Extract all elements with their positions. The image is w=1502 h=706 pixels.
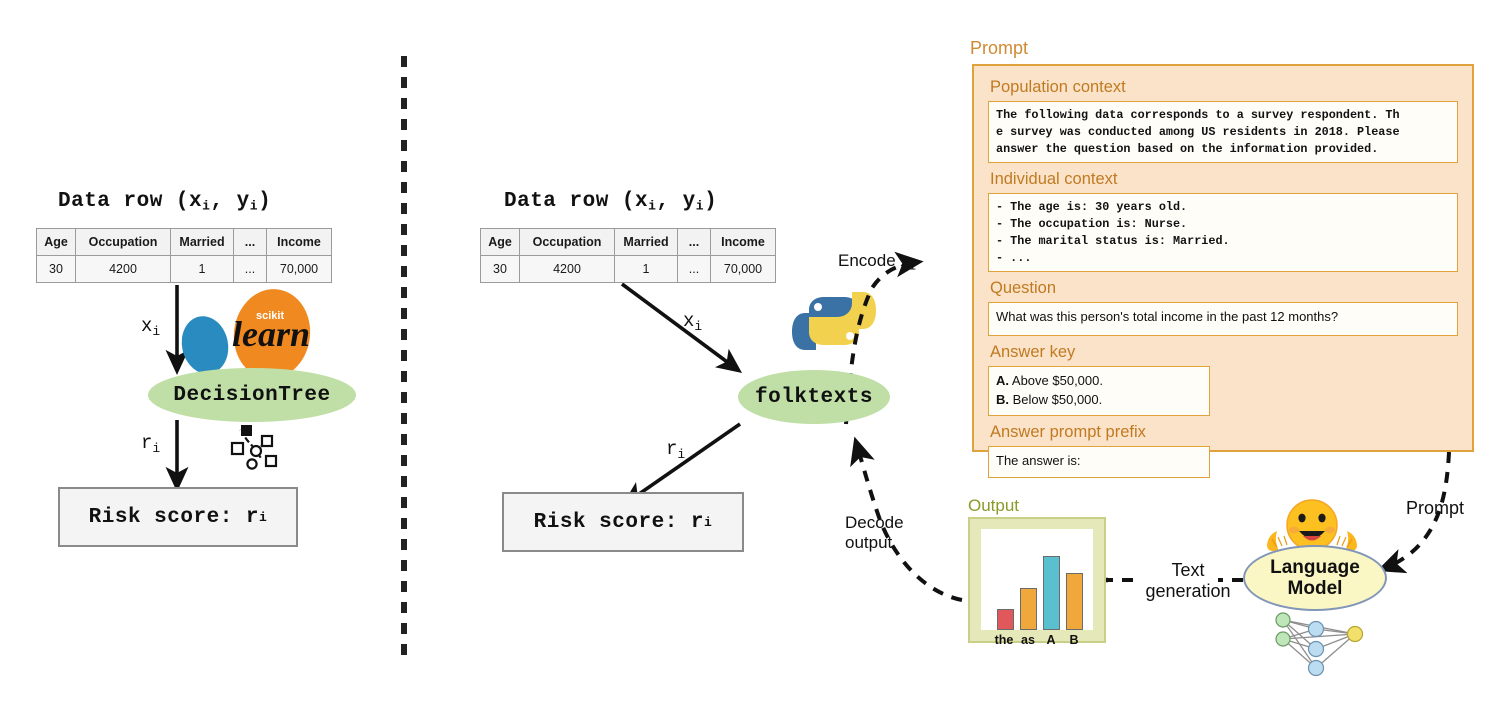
table-header-cell: Occupation: [520, 229, 615, 256]
middle-data-row-title: Data row (xi, yi): [504, 190, 717, 214]
bar-b: [1066, 573, 1083, 630]
left-data-table: Age Occupation Married ... Income 30 420…: [36, 228, 332, 283]
table-header-cell: Age: [37, 229, 76, 256]
language-model-label-line2: Model: [1288, 578, 1343, 599]
middle-title-prefix: Data row (x: [504, 190, 648, 213]
text-generation-label: Text generation: [1142, 560, 1234, 601]
table-header-cell: Married: [171, 229, 234, 256]
table-cell: 1: [615, 256, 678, 283]
table-row: 30 4200 1 ... 70,000: [481, 256, 776, 283]
middle-edge-x-sub: i: [694, 319, 702, 334]
left-title-suffix: ): [258, 190, 271, 213]
prompt-card: Population context The following data co…: [972, 64, 1474, 452]
middle-data-table: Age Occupation Married ... Income 30 420…: [480, 228, 776, 283]
left-data-row-title: Data row (xi, yi): [58, 190, 271, 214]
decision-tree-node[interactable]: DecisionTree: [148, 368, 356, 422]
middle-edge-label-x: xi: [683, 310, 702, 334]
left-title-mid: , y: [210, 190, 249, 213]
middle-title-suffix: ): [704, 190, 717, 213]
bar-as: [1020, 588, 1037, 630]
left-edge-label-x: xi: [141, 315, 160, 339]
decision-tree-icon: [232, 425, 276, 469]
answer-option-text: Below $50,000.: [1013, 392, 1103, 407]
answer-option-key: B.: [996, 392, 1009, 407]
table-header-cell: Occupation: [76, 229, 171, 256]
question-box: What was this person's total income in t…: [988, 302, 1458, 336]
middle-risk-score-box: Risk score: ri: [502, 492, 744, 552]
hugging-face-emoji: [1267, 500, 1357, 551]
table-header-cell: ...: [678, 229, 711, 256]
output-probabilities-box: the as A B: [968, 517, 1106, 643]
answer-option-key: A.: [996, 373, 1009, 388]
middle-risk-sub: i: [704, 515, 712, 530]
left-edge-r-text: r: [141, 432, 152, 454]
section-heading-answer-prompt-prefix: Answer prompt prefix: [990, 423, 1458, 442]
neural-network-icon: [1276, 613, 1363, 676]
table-header-cell: Income: [267, 229, 332, 256]
table-header-row: Age Occupation Married ... Income: [481, 229, 776, 256]
table-cell: 30: [37, 256, 76, 283]
bar-a: [1043, 556, 1060, 630]
answer-prompt-prefix-box: The answer is:: [988, 446, 1210, 478]
table-header-cell: ...: [234, 229, 267, 256]
left-edge-x-text: x: [141, 315, 152, 337]
left-title-prefix: Data row (x: [58, 190, 202, 213]
left-risk-score-box: Risk score: ri: [58, 487, 298, 547]
decision-tree-label: DecisionTree: [173, 384, 330, 407]
answer-key-box: A. Above $50,000. B. Below $50,000.: [988, 366, 1210, 416]
decode-label: Decode output: [845, 513, 904, 552]
folktexts-label: folktexts: [755, 386, 873, 409]
middle-edge-x-text: x: [683, 310, 694, 332]
language-model-label-line1: Language: [1270, 557, 1360, 578]
section-heading-answer-key: Answer key: [990, 343, 1458, 362]
table-cell: 70,000: [711, 256, 776, 283]
table-row: 30 4200 1 ... 70,000: [37, 256, 332, 283]
population-context-box: The following data corresponds to a surv…: [988, 101, 1458, 163]
table-header-row: Age Occupation Married ... Income: [37, 229, 332, 256]
table-cell: 1: [171, 256, 234, 283]
prompt-title: Prompt: [970, 38, 1028, 59]
table-cell: 4200: [520, 256, 615, 283]
prompt-edge-label: Prompt: [1406, 498, 1464, 519]
middle-risk-label: Risk score: r: [534, 511, 704, 534]
left-edge-r-sub: i: [152, 441, 160, 456]
encode-label-sub: i: [909, 260, 916, 274]
language-model-node[interactable]: LanguageModel: [1243, 545, 1387, 611]
section-heading-population-context: Population context: [990, 78, 1458, 97]
left-edge-x-sub: i: [152, 324, 160, 339]
middle-title-sub-2: i: [696, 199, 704, 214]
table-header-cell: Married: [615, 229, 678, 256]
middle-title-mid: , y: [656, 190, 695, 213]
answer-option: A. Above $50,000.: [996, 372, 1202, 391]
section-heading-question: Question: [990, 279, 1458, 298]
answer-option-text: Above $50,000.: [1012, 373, 1103, 388]
python-logo: [792, 292, 876, 350]
table-cell: ...: [678, 256, 711, 283]
middle-edge-r-text: r: [666, 438, 677, 460]
probabilities-bar-chart: the as A B: [981, 529, 1093, 630]
table-cell: 70,000: [267, 256, 332, 283]
left-edge-label-r: ri: [141, 432, 160, 456]
language-model-label: LanguageModel: [1270, 557, 1360, 600]
encode-label-text: Encode x: [838, 251, 909, 270]
left-risk-label: Risk score: r: [89, 506, 259, 529]
folktexts-node[interactable]: folktexts: [738, 370, 890, 424]
prompt-title-text: Prompt: [970, 38, 1028, 58]
table-cell: ...: [234, 256, 267, 283]
table-header-cell: Income: [711, 229, 776, 256]
table-header-cell: Age: [481, 229, 520, 256]
table-cell: 4200: [76, 256, 171, 283]
section-heading-individual-context: Individual context: [990, 170, 1458, 189]
bar-the: [997, 609, 1014, 630]
middle-edge-label-r: ri: [666, 438, 685, 462]
bar-label-b: B: [1059, 633, 1089, 647]
encode-label: Encode xi: [838, 251, 916, 274]
left-risk-sub: i: [259, 510, 267, 525]
left-title-sub-2: i: [250, 199, 258, 214]
middle-edge-r-sub: i: [677, 447, 685, 462]
table-cell: 30: [481, 256, 520, 283]
individual-context-box: - The age is: 30 years old. - The occupa…: [988, 193, 1458, 272]
answer-option: B. Below $50,000.: [996, 391, 1202, 410]
middle-arrow-x-to-folktexts: [622, 284, 738, 370]
